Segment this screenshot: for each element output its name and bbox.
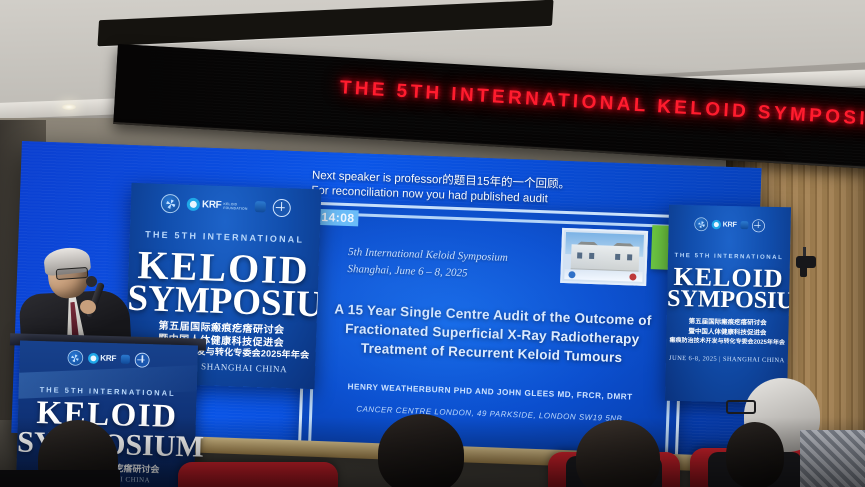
microphone-head	[86, 276, 97, 287]
krf-mark-icon	[88, 353, 99, 364]
foreground-vignette	[0, 417, 865, 487]
medical-cross-icon	[752, 219, 765, 232]
ceiling-camera-icon	[796, 256, 816, 268]
medical-cross-icon	[272, 198, 291, 217]
clock-badge: 14:08	[317, 209, 359, 226]
photo-window	[615, 254, 620, 260]
krf-logo-icon: KRF	[88, 353, 116, 364]
krf-wordmark: KRF	[202, 200, 222, 211]
symposium-emblem-icon	[67, 350, 83, 366]
clinic-building-photo	[560, 228, 648, 286]
banner-logo-row: KRF KELOID FOUNDATION	[131, 193, 322, 219]
medical-cross-icon	[135, 352, 150, 367]
conference-hall-photo: THE 5TH INTERNATIONAL KELOID SYMPOSIUM N…	[0, 0, 865, 487]
photo-window	[627, 254, 632, 260]
symposium-emblem-icon	[694, 217, 708, 231]
krf-wordmark: KRF	[723, 221, 737, 228]
photo-window	[589, 253, 594, 259]
symposium-emblem-icon	[161, 194, 181, 214]
audience-glasses	[726, 400, 756, 414]
krf-logo-icon: KRF	[712, 220, 737, 230]
krf-mark-icon	[712, 220, 722, 230]
led-ticker-vignette	[113, 44, 247, 130]
krf-wordmark: KRF	[100, 354, 116, 363]
society-badge-icon	[740, 221, 748, 229]
photo-window	[577, 252, 582, 258]
banner-date-location: JUNE 6-8, 2025 | SHANGHAI CHINA	[666, 355, 788, 365]
society-badge-icon	[254, 201, 265, 212]
lectern-logo-row: KRF	[35, 349, 181, 369]
speaker-glasses	[56, 267, 89, 280]
banner-eyebrow: THE 5TH INTERNATIONAL	[668, 253, 790, 262]
society-badge-icon	[121, 355, 130, 364]
krf-mark-icon	[187, 198, 200, 211]
banner-chinese-line-3: 瘢痕防治技术开发与转化专委会2025年年会	[666, 335, 788, 347]
krf-logo-icon: KRF KELOID FOUNDATION	[187, 198, 248, 213]
banner-symposium-word: SYMPOSIUM	[667, 286, 790, 316]
backdrop-banner-right: KRF THE 5TH INTERNATIONAL KELOID SYMPOSI…	[665, 205, 791, 404]
krf-subtext: KELOID FOUNDATION	[223, 201, 248, 210]
ceiling-downlight	[62, 104, 76, 110]
banner-logo-row: KRF	[686, 217, 774, 233]
